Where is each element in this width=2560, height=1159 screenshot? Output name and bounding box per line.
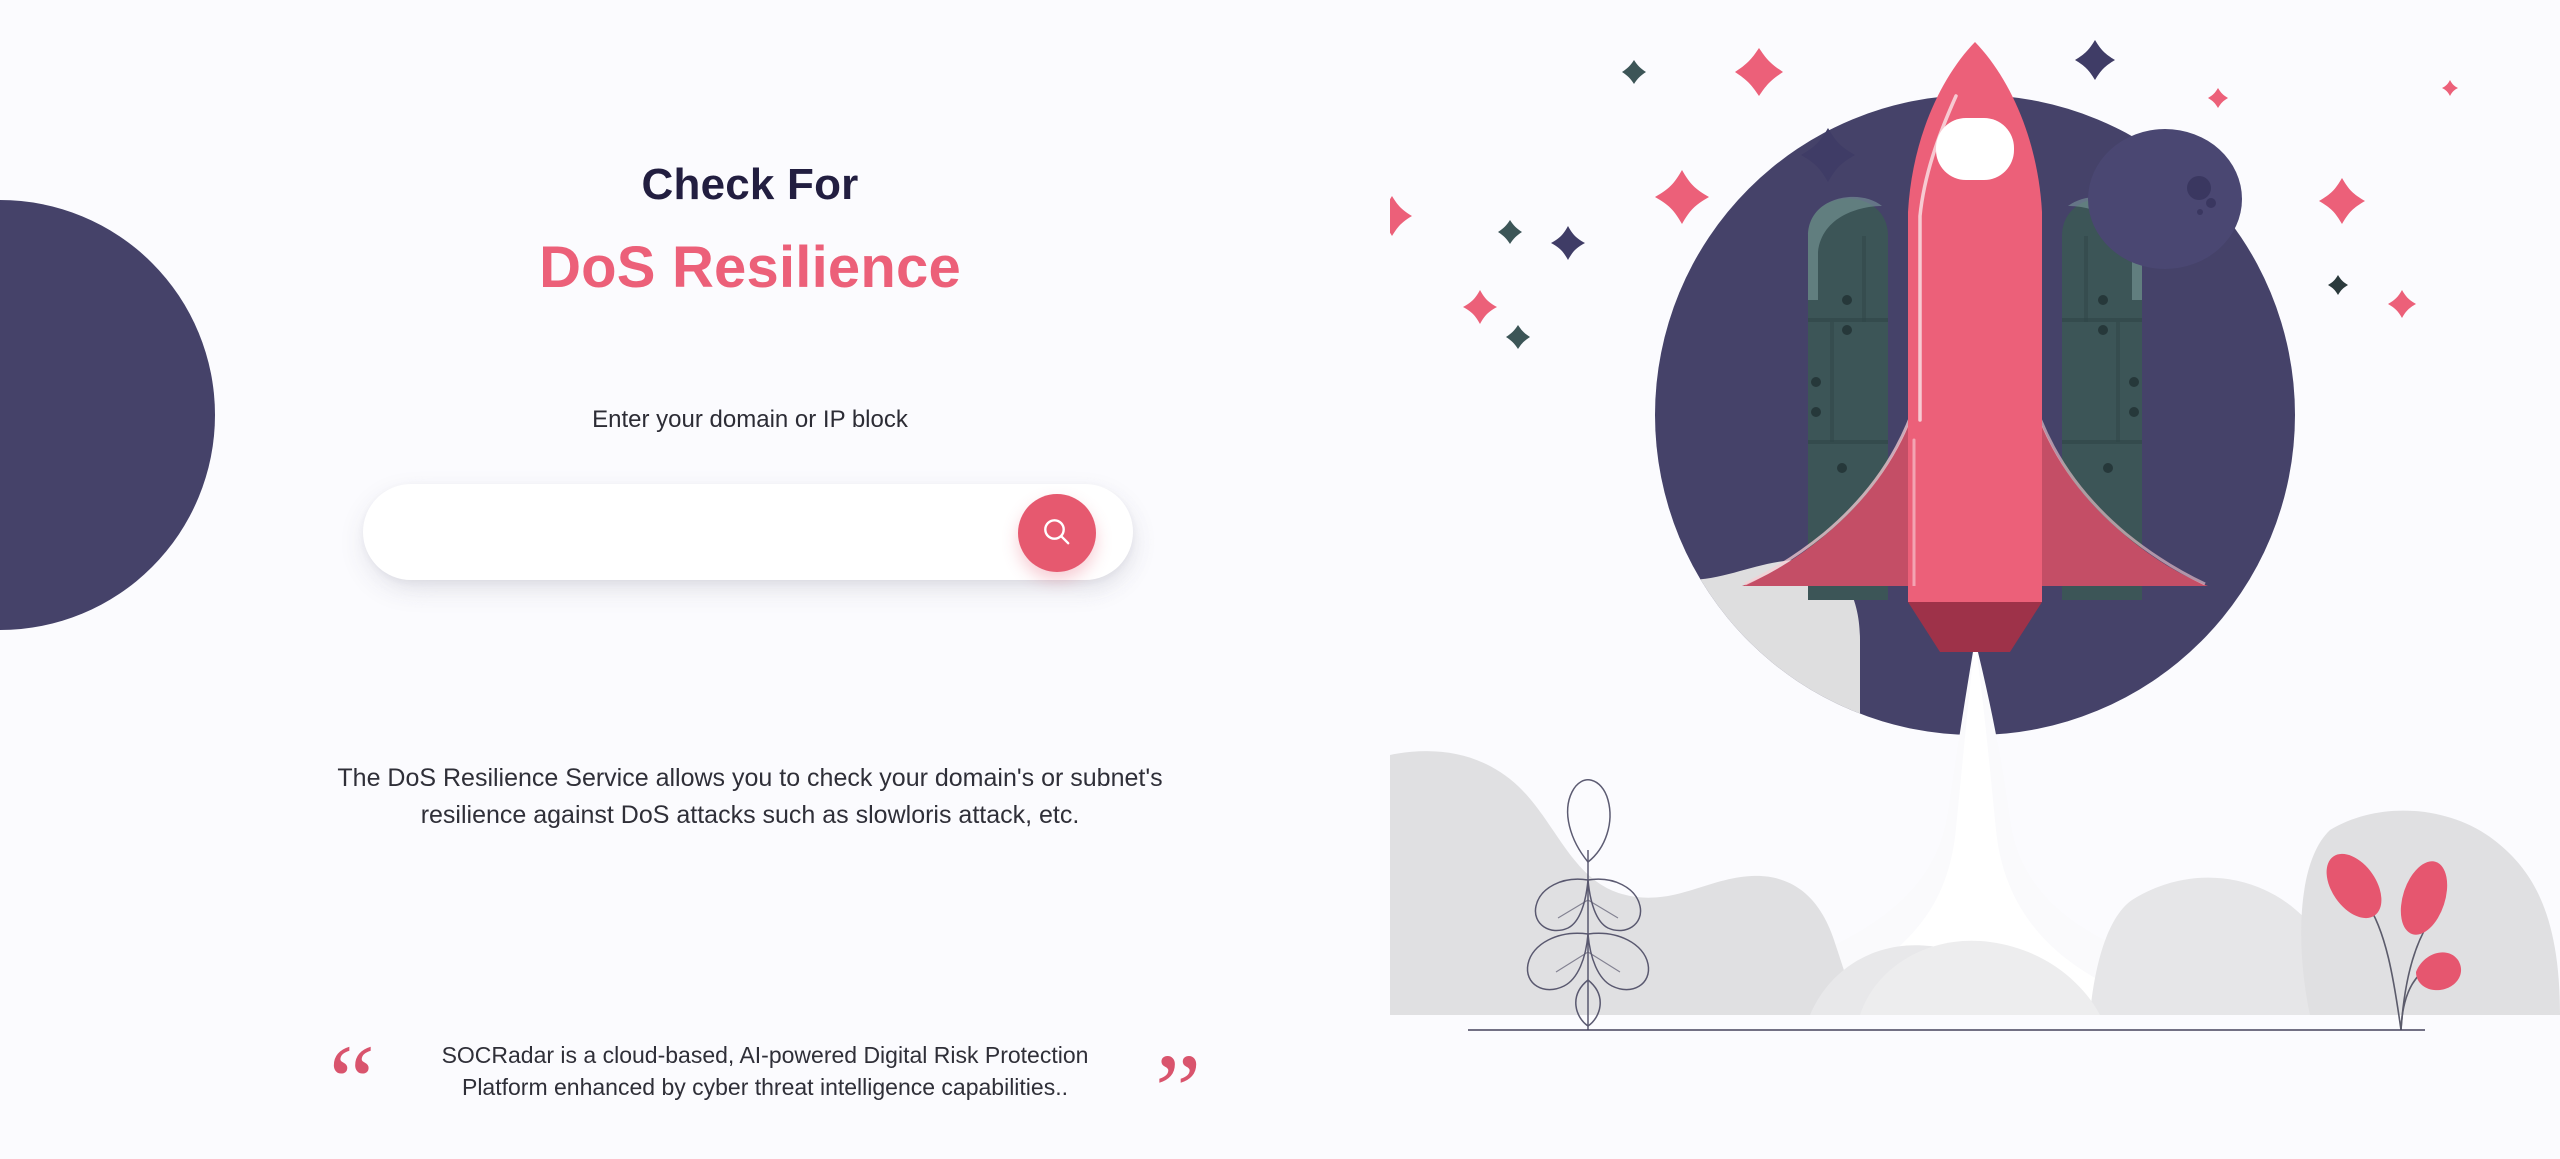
star-teal-2	[1506, 325, 1530, 349]
quote-text: SOCRadar is a cloud-based, AI-powered Di…	[415, 1040, 1115, 1103]
hero-heading-block: Check For DoS Resilience	[0, 160, 1500, 302]
hero-left-panel: Check For DoS Resilience Enter your doma…	[0, 0, 1500, 1159]
quote-close-icon: ”	[1155, 1086, 1201, 1096]
star-teal-1	[1498, 220, 1522, 244]
pink-wave	[2260, 651, 2560, 735]
page-title-line-1: Check For	[0, 160, 1500, 211]
quote-open-icon: “	[329, 1077, 375, 1087]
white-wedge-left	[1390, 360, 1514, 453]
planet	[2088, 129, 2242, 269]
search-label: Enter your domain or IP block	[0, 406, 1500, 434]
star-pink-4	[2208, 88, 2228, 108]
page-title-line-2: DoS Resilience	[0, 233, 1500, 303]
star-navy-3	[1551, 226, 1585, 260]
star-navy-4	[2075, 40, 2115, 80]
star-pink-8	[2442, 80, 2458, 96]
white-wedge-lower	[1390, 533, 1594, 598]
star-pink-7	[1390, 196, 1412, 236]
star-pink-6	[2388, 290, 2416, 318]
star-pink-1	[1735, 48, 1783, 96]
rocket-launch-illustration	[1390, 0, 2560, 1100]
star-pink-5	[2319, 178, 2365, 224]
testimonial-quote: “ SOCRadar is a cloud-based, AI-powered …	[200, 1040, 1330, 1103]
star-navy-1	[1622, 60, 1646, 84]
search-button[interactable]	[1018, 494, 1096, 572]
search-box	[363, 484, 1137, 594]
star-teal-3	[2328, 275, 2348, 295]
rocket-window	[1936, 118, 2014, 180]
crescent-moon	[1442, 270, 1561, 394]
star-pink-3	[1463, 290, 1497, 324]
star-pink-2	[1655, 170, 1709, 224]
rocket-base-band	[1908, 586, 2042, 602]
ground-cloud-left	[1390, 751, 1860, 1015]
service-description: The DoS Resilience Service allows you to…	[330, 760, 1170, 834]
search-icon	[1040, 515, 1074, 552]
